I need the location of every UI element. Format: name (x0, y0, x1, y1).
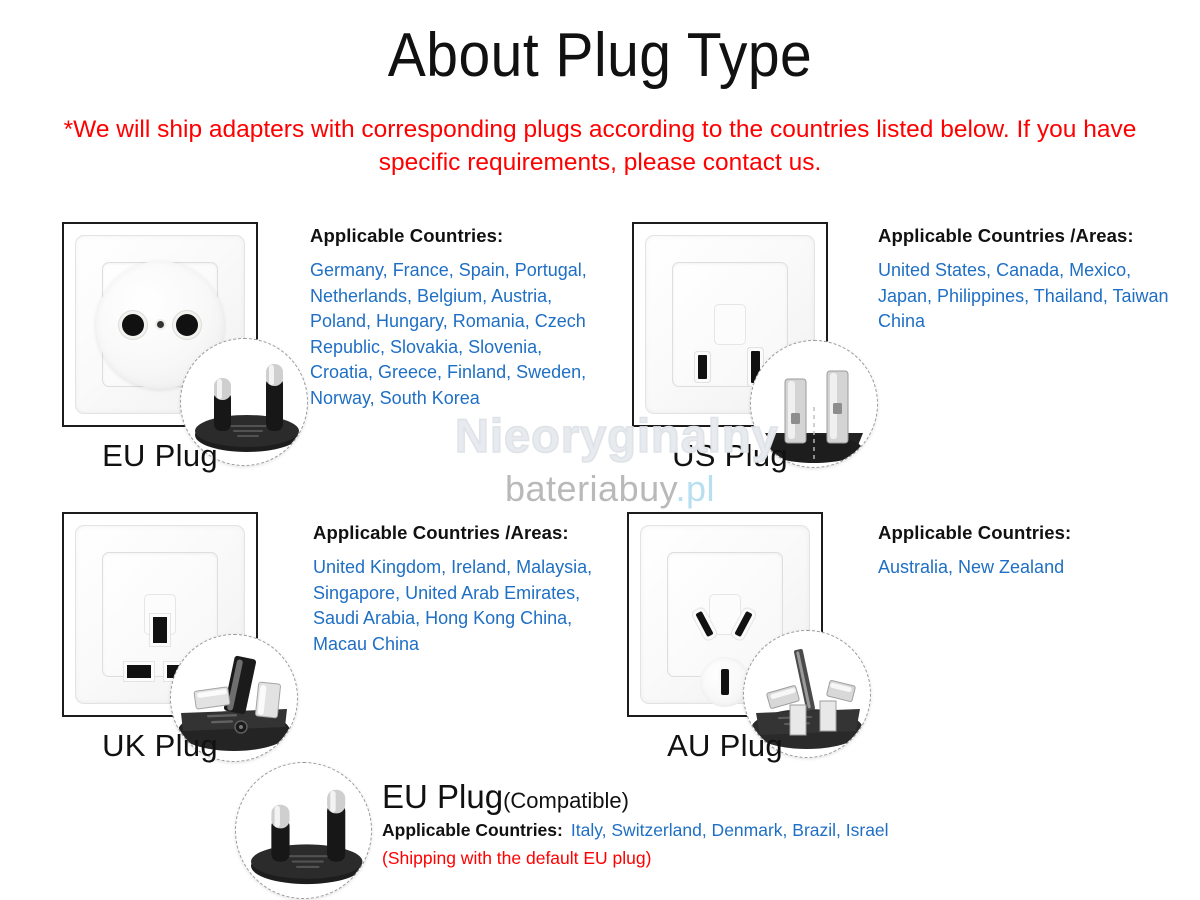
compatible-plug-title-suffix: (Compatible) (503, 788, 629, 813)
plug-text-us: Applicable Countries /Areas: United Stat… (878, 225, 1188, 335)
plug-label-eu: EU Plug (62, 438, 258, 474)
plug-text-uk: Applicable Countries /Areas: United King… (313, 522, 618, 657)
watermark-site: bateriabuy.pl (505, 468, 715, 510)
plug-text-au: Applicable Countries: Australia, New Zea… (878, 522, 1188, 581)
plug-label-au: AU Plug (627, 728, 823, 764)
applicable-countries-list-us: United States, Canada, Mexico, Japan, Ph… (878, 258, 1188, 335)
plug-type-infographic: About Plug Type *We will ship adapters w… (0, 0, 1200, 900)
applicable-countries-heading-uk: Applicable Countries /Areas: (313, 522, 618, 544)
applicable-countries-list-au: Australia, New Zealand (878, 555, 1188, 581)
eu-socket-hole-right (176, 314, 198, 336)
eu-socket-hole-left (122, 314, 144, 336)
compatible-countries-list: Italy, Switzerland, Denmark, Brazil, Isr… (571, 820, 889, 840)
page-title: About Plug Type (48, 20, 1152, 91)
watermark-site-tld: .pl (675, 468, 715, 509)
eu-socket-center-pin (157, 321, 164, 328)
eu-plug-icon (235, 762, 372, 899)
uk-socket-slot-right (127, 665, 151, 678)
au-socket-slot-left (734, 611, 752, 637)
uk-socket-earth-slot (153, 617, 167, 643)
compatible-shipping-note: (Shipping with the default EU plug) (382, 848, 651, 869)
applicable-countries-heading-au: Applicable Countries: (878, 522, 1188, 544)
au-socket-earth-slot (721, 669, 729, 695)
shipping-note: *We will ship adapters with correspondin… (60, 113, 1140, 179)
applicable-countries-heading-us: Applicable Countries /Areas: (878, 225, 1188, 247)
compatible-plug-title-main: EU Plug (382, 778, 503, 815)
us-socket-slot-right (698, 355, 707, 379)
applicable-countries-heading-eu: Applicable Countries: (310, 225, 610, 247)
compatible-countries-heading: Applicable Countries: (382, 820, 563, 840)
applicable-countries-list-uk: United Kingdom, Ireland, Malaysia, Singa… (313, 555, 618, 657)
applicable-countries-list-eu: Germany, France, Spain, Portugal, Nether… (310, 258, 610, 411)
compatible-countries-line: Applicable Countries:Italy, Switzerland,… (382, 820, 889, 841)
plug-label-us: US Plug (632, 438, 828, 474)
au-socket-slot-right (695, 611, 713, 637)
watermark-site-name: bateriabuy (505, 468, 675, 509)
plug-label-uk: UK Plug (62, 728, 258, 764)
compatible-plug-title: EU Plug(Compatible) (382, 778, 629, 816)
plug-text-eu: Applicable Countries: Germany, France, S… (310, 225, 610, 411)
